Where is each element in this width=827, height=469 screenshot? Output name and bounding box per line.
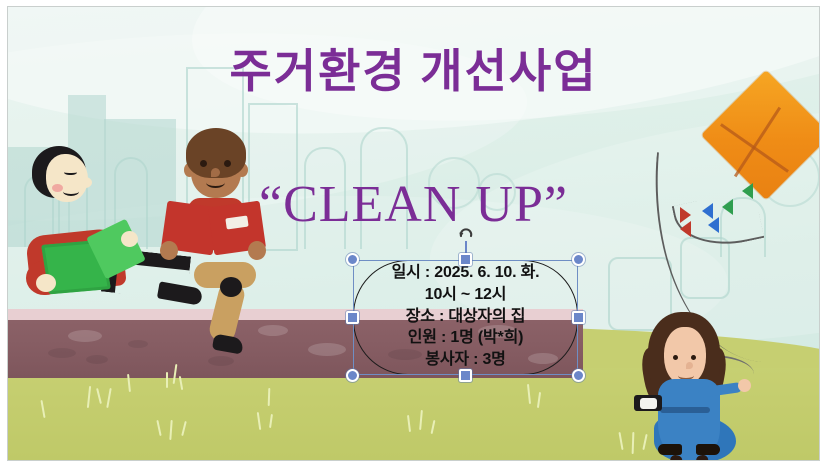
handle-top-left[interactable] bbox=[346, 253, 359, 266]
selected-text-box[interactable]: 일시 : 2025. 6. 10. 화. 10시 ~ 12시 장소 : 대상자의… bbox=[353, 260, 578, 375]
handle-middle-left[interactable] bbox=[346, 311, 359, 324]
girl-belt bbox=[660, 407, 710, 413]
reader-eye bbox=[224, 160, 231, 167]
rotation-handle[interactable] bbox=[457, 224, 475, 242]
reader-eye bbox=[200, 160, 207, 167]
handle-top-center[interactable] bbox=[459, 253, 472, 266]
reader-eye bbox=[64, 168, 77, 175]
slide-surface[interactable]: 주거환경 개선사업 “CLEAN UP” 일시 : 2025. 6. 10. 화… bbox=[7, 6, 820, 461]
girl-hand bbox=[738, 379, 751, 392]
wall-texture bbox=[128, 340, 148, 348]
handle-bottom-right[interactable] bbox=[572, 369, 585, 382]
girl-eye bbox=[673, 355, 678, 360]
wall-texture bbox=[68, 330, 102, 342]
reader-hand bbox=[248, 241, 266, 260]
handle-bottom-left[interactable] bbox=[346, 369, 359, 382]
wall-texture bbox=[308, 343, 346, 356]
wall-texture bbox=[86, 355, 108, 364]
handle-bottom-center[interactable] bbox=[459, 369, 472, 382]
reader-hand bbox=[160, 241, 178, 260]
selection-bounding-box bbox=[353, 260, 578, 375]
girl-eye bbox=[691, 355, 696, 360]
reader-hand bbox=[36, 274, 56, 292]
slide-subtitle[interactable]: “CLEAN UP” bbox=[8, 175, 819, 234]
handle-top-right[interactable] bbox=[572, 253, 585, 266]
girl-shoe bbox=[696, 444, 720, 455]
girl-shoe bbox=[658, 444, 682, 455]
slide-canvas: 주거환경 개선사업 “CLEAN UP” 일시 : 2025. 6. 10. 화… bbox=[0, 0, 827, 469]
slide-title[interactable]: 주거환경 개선사업 bbox=[8, 35, 819, 101]
handle-middle-right[interactable] bbox=[572, 311, 585, 324]
reader-knee bbox=[220, 277, 242, 297]
kite-reel-spool bbox=[640, 398, 657, 409]
girl-nose bbox=[686, 362, 693, 369]
wall-texture bbox=[208, 356, 234, 366]
wall-texture bbox=[258, 325, 288, 336]
wall-texture bbox=[48, 348, 76, 358]
grass-blade bbox=[166, 372, 168, 388]
